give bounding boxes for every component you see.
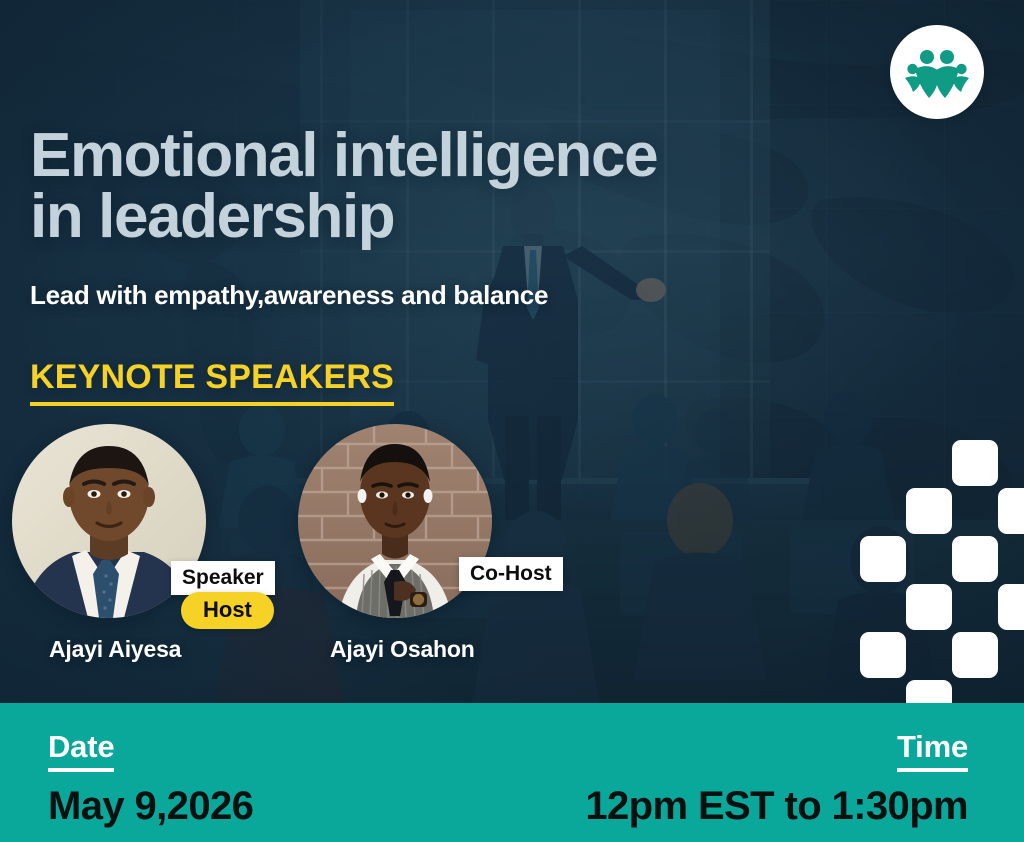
headline-line-1: Emotional intelligence — [30, 121, 657, 190]
time-value: 12pm EST to 1:30pm — [585, 784, 968, 829]
checker-square — [906, 488, 952, 534]
event-flyer: Emotional intelligence in leadership Lea… — [0, 0, 1024, 842]
date-block: Date May 9,2026 — [48, 729, 253, 829]
speaker-1-host-badge: Host — [181, 592, 274, 629]
checker-square — [998, 488, 1024, 534]
footer-bar: Date May 9,2026 Time 12pm EST to 1:30pm — [0, 703, 1024, 842]
checker-square — [998, 584, 1024, 630]
checker-square — [952, 440, 998, 486]
checkerboard-decoration — [884, 440, 1024, 710]
speaker-2-name: Ajayi Osahon — [330, 636, 475, 663]
checker-square — [952, 536, 998, 582]
checker-square — [860, 536, 906, 582]
organization-logo — [890, 25, 984, 119]
time-label: Time — [897, 729, 968, 772]
date-value: May 9,2026 — [48, 784, 253, 829]
headline-line-2: in leadership — [30, 187, 657, 248]
people-group-logo-icon — [903, 43, 971, 101]
checker-square — [860, 632, 906, 678]
speaker-1-role-badge: Speaker — [171, 561, 275, 595]
checker-square — [952, 632, 998, 678]
time-block: Time 12pm EST to 1:30pm — [585, 729, 968, 829]
checker-square — [906, 584, 952, 630]
speaker-2-role-badge: Co-Host — [459, 557, 563, 591]
speaker-1-name: Ajayi Aiyesa — [49, 636, 181, 663]
keynote-speakers-heading: KEYNOTE SPEAKERS — [30, 358, 394, 406]
page-title: Emotional intelligence in leadership — [30, 126, 657, 248]
subheadline: Lead with empathy,awareness and balance — [30, 280, 548, 311]
date-label: Date — [48, 729, 114, 772]
